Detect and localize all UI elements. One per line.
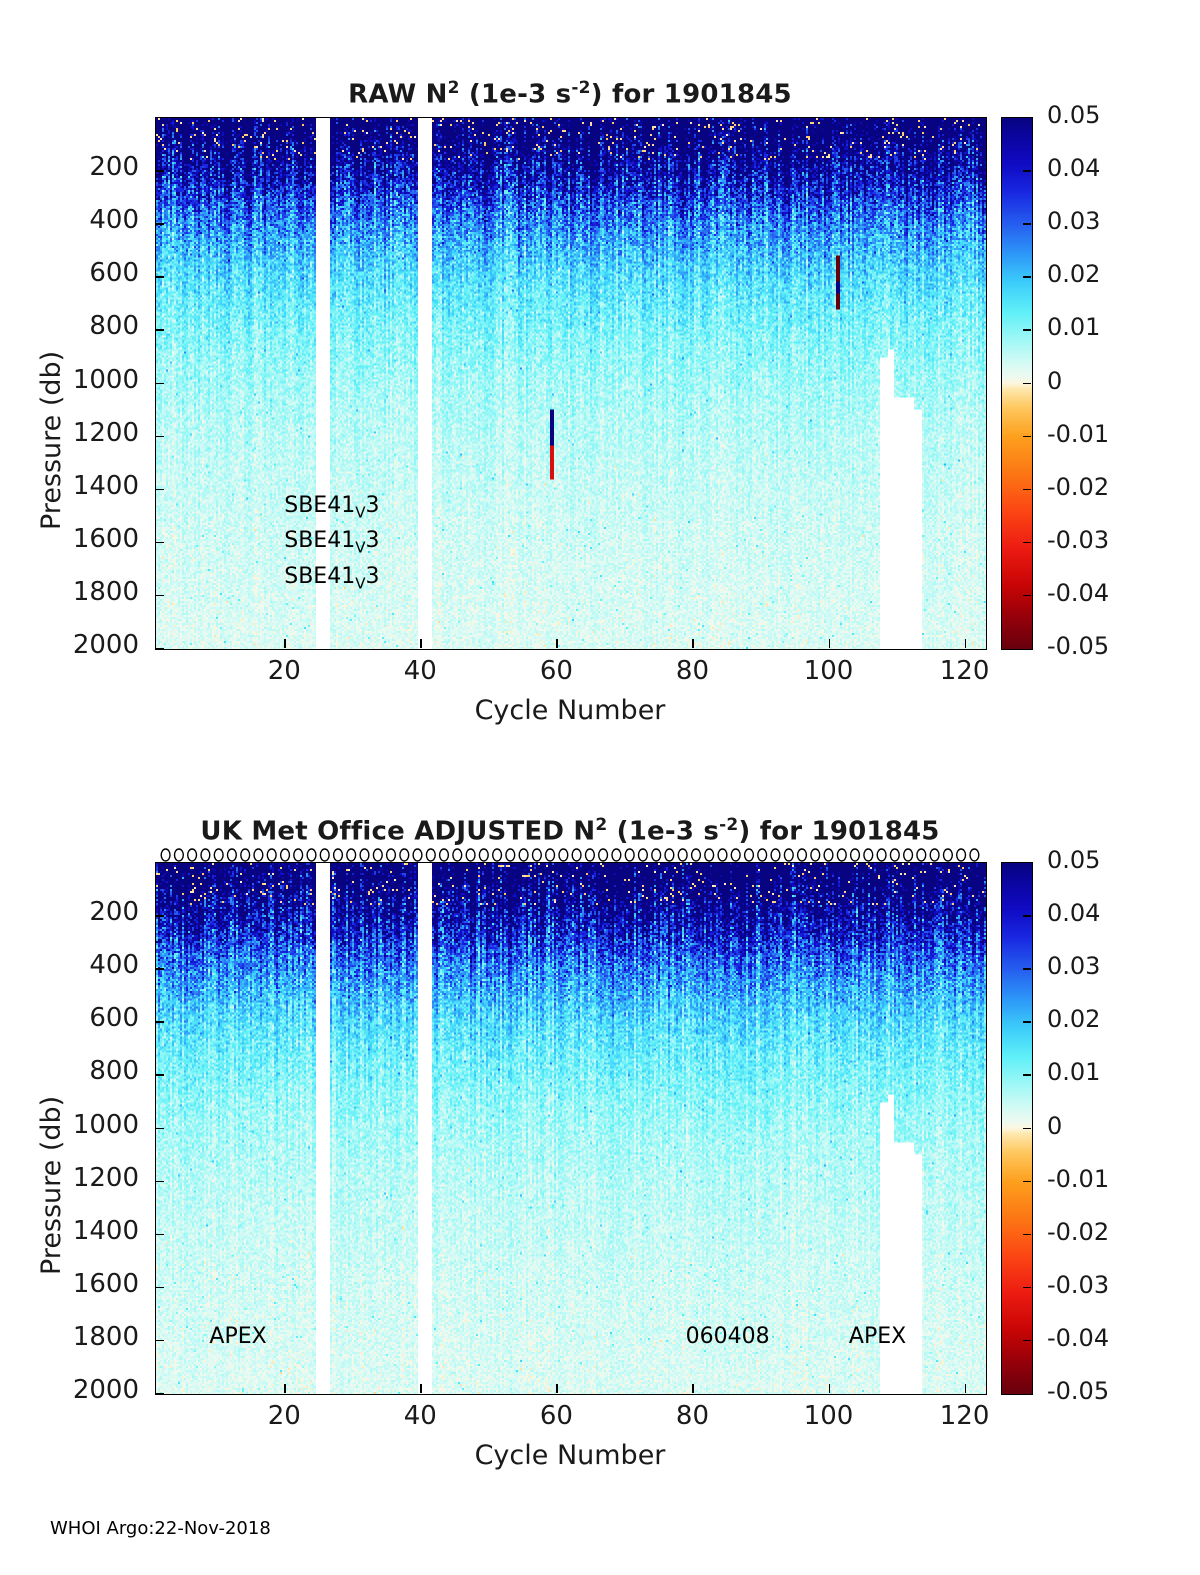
y-tick-mark [155, 542, 164, 544]
annotation-text: APEX [849, 1324, 906, 1349]
y-tick-mark [155, 436, 164, 438]
adjusted-cycle-marker-row [155, 848, 985, 862]
x-tick-mark [284, 1384, 286, 1393]
y-tick-label: 1400 [27, 1216, 139, 1246]
annotation-text: APEX [209, 1324, 266, 1349]
y-tick-label: 1200 [27, 1163, 139, 1193]
colorbar-tick-label: -0.01 [1047, 1165, 1109, 1193]
x-tick-label: 80 [642, 1401, 742, 1431]
adjusted-plot-title: UK Met Office ADJUSTED N2 (1e-3 s-2) for… [130, 815, 1010, 847]
x-tick-label: 80 [642, 656, 742, 686]
raw-title-sup1: 2 [448, 78, 460, 98]
plot-annotation: SBE41V3 [284, 564, 379, 592]
x-tick-mark [692, 1384, 694, 1393]
colorbar-tick-mark [1023, 1074, 1031, 1076]
colorbar-tick-label: -0.02 [1047, 473, 1109, 501]
raw-plot-title: RAW N2 (1e-3 s-2) for 1901845 [155, 78, 985, 110]
annotation-subscript: V [355, 575, 365, 593]
raw-title-sup2: -2 [571, 78, 590, 98]
adjusted-title-mid: (1e-3 s [607, 817, 719, 847]
adjusted-plot-area[interactable] [155, 862, 987, 1395]
y-tick-label: 2000 [27, 630, 139, 660]
x-tick-label: 60 [506, 1401, 606, 1431]
colorbar-tick-label: -0.02 [1047, 1218, 1109, 1246]
colorbar-tick-mark [1023, 489, 1031, 491]
colorbar-tick-label: -0.03 [1047, 526, 1109, 554]
figure-footer: WHOI Argo:22-Nov-2018 [50, 1518, 271, 1539]
adjusted-x-axis-label: Cycle Number [155, 1440, 985, 1471]
y-tick-label: 1800 [27, 577, 139, 607]
colorbar-tick-mark [1023, 1128, 1031, 1130]
y-tick-label: 600 [27, 1003, 139, 1033]
y-tick-mark [155, 383, 164, 385]
y-tick-label: 600 [27, 258, 139, 288]
annotation-text: SBE41 [284, 564, 355, 589]
colorbar-tick-mark [1023, 915, 1031, 917]
x-tick-label: 100 [779, 1401, 879, 1431]
colorbar-tick-label: 0.01 [1047, 1058, 1100, 1086]
x-tick-label: 20 [234, 656, 334, 686]
raw-title-main: RAW N [348, 80, 447, 110]
y-tick-label: 1800 [27, 1322, 139, 1352]
colorbar-tick-mark [1023, 1340, 1031, 1342]
colorbar-tick-mark [1023, 1181, 1031, 1183]
colorbar-tick-label: 0.05 [1047, 846, 1100, 874]
colorbar-tick-mark [1023, 1234, 1031, 1236]
raw-title-mid: (1e-3 s [460, 80, 572, 110]
colorbar-tick-label: -0.04 [1047, 1324, 1109, 1352]
y-tick-mark [155, 1340, 164, 1342]
y-tick-mark [155, 276, 164, 278]
adjusted-title-end: ) for 1901845 [738, 817, 939, 847]
colorbar-tick-label: 0.03 [1047, 952, 1100, 980]
colorbar-tick-label: 0 [1047, 367, 1062, 395]
x-tick-mark [829, 639, 831, 648]
colorbar-tick-label: 0.01 [1047, 313, 1100, 341]
colorbar-tick-label: -0.03 [1047, 1271, 1109, 1299]
x-tick-label: 40 [370, 1401, 470, 1431]
y-tick-label: 800 [27, 1056, 139, 1086]
y-tick-mark [155, 1128, 164, 1130]
colorbar-tick-mark [1023, 1287, 1031, 1289]
colorbar-tick-label: 0 [1047, 1112, 1062, 1140]
y-tick-label: 200 [27, 152, 139, 182]
y-tick-mark [155, 1393, 164, 1395]
plot-annotation: SBE41V3 [284, 528, 379, 556]
annotation-text: SBE41 [284, 493, 355, 518]
x-tick-mark [420, 1384, 422, 1393]
raw-title-end: ) for 1901845 [591, 80, 792, 110]
y-tick-label: 1600 [27, 1269, 139, 1299]
annotation-tail: 3 [365, 564, 379, 589]
colorbar-tick-label: -0.01 [1047, 420, 1109, 448]
x-tick-mark [692, 639, 694, 648]
y-tick-mark [155, 968, 164, 970]
annotation-tail: 3 [365, 493, 379, 518]
plot-annotation: SBE41V3 [284, 493, 379, 521]
raw-x-axis-label: Cycle Number [155, 695, 985, 726]
annotation-subscript: V [355, 503, 365, 521]
y-tick-label: 400 [27, 950, 139, 980]
colorbar-tick-label: 0.04 [1047, 899, 1100, 927]
plot-annotation: APEX [209, 1324, 266, 1349]
x-tick-mark [965, 1384, 967, 1393]
colorbar-tick-mark [1023, 170, 1031, 172]
y-tick-mark [155, 1074, 164, 1076]
annotation-subscript: V [355, 539, 365, 557]
colorbar-tick-mark [1023, 595, 1031, 597]
y-tick-mark [155, 1181, 164, 1183]
x-tick-mark [284, 639, 286, 648]
colorbar-tick-label: -0.05 [1047, 632, 1109, 660]
colorbar-tick-label: 0.04 [1047, 154, 1100, 182]
colorbar-tick-label: -0.05 [1047, 1377, 1109, 1405]
y-tick-mark [155, 223, 164, 225]
colorbar-tick-mark [1023, 968, 1031, 970]
raw-heatmap [156, 118, 986, 649]
x-tick-mark [420, 639, 422, 648]
colorbar-tick-label: 0.05 [1047, 101, 1100, 129]
y-tick-label: 1000 [27, 1110, 139, 1140]
adjusted-heatmap [156, 863, 986, 1394]
y-tick-mark [155, 648, 164, 650]
y-tick-label: 1000 [27, 365, 139, 395]
y-tick-mark [155, 170, 164, 172]
y-tick-mark [155, 1287, 164, 1289]
annotation-tail: 3 [365, 528, 379, 553]
raw-plot-area[interactable] [155, 117, 987, 650]
y-tick-label: 200 [27, 897, 139, 927]
y-tick-label: 800 [27, 311, 139, 341]
colorbar-tick-label: -0.04 [1047, 579, 1109, 607]
y-tick-mark [155, 489, 164, 491]
y-tick-mark [155, 1021, 164, 1023]
adjusted-title-main: UK Met Office ADJUSTED N [200, 817, 595, 847]
x-tick-label: 120 [915, 1401, 1015, 1431]
y-tick-label: 1200 [27, 418, 139, 448]
colorbar-tick-mark [1023, 223, 1031, 225]
y-tick-label: 2000 [27, 1375, 139, 1405]
colorbar-tick-label: 0.02 [1047, 260, 1100, 288]
y-tick-label: 400 [27, 205, 139, 235]
y-tick-label: 1400 [27, 471, 139, 501]
x-tick-label: 20 [234, 1401, 334, 1431]
y-tick-label: 1600 [27, 524, 139, 554]
x-tick-mark [556, 1384, 558, 1393]
plot-annotation: 060408 [686, 1324, 770, 1349]
x-tick-label: 60 [506, 656, 606, 686]
colorbar-tick-mark [1023, 1021, 1031, 1023]
x-tick-mark [556, 639, 558, 648]
y-tick-mark [155, 1234, 164, 1236]
colorbar-tick-mark [1023, 436, 1031, 438]
adjusted-title-sup1: 2 [595, 815, 607, 835]
x-tick-label: 100 [779, 656, 879, 686]
plot-annotation: APEX [849, 1324, 906, 1349]
x-tick-mark [965, 639, 967, 648]
colorbar-tick-mark [1023, 329, 1031, 331]
x-tick-mark [829, 1384, 831, 1393]
y-tick-mark [155, 595, 164, 597]
colorbar-tick-mark [1023, 542, 1031, 544]
y-tick-mark [155, 329, 164, 331]
y-tick-mark [155, 915, 164, 917]
colorbar-tick-label: 0.02 [1047, 1005, 1100, 1033]
colorbar-tick-mark [1023, 276, 1031, 278]
x-tick-label: 40 [370, 656, 470, 686]
annotation-text: SBE41 [284, 528, 355, 553]
adjusted-title-sup2: -2 [719, 815, 738, 835]
colorbar-tick-mark [1023, 383, 1031, 385]
annotation-text: 060408 [686, 1324, 770, 1349]
x-tick-label: 120 [915, 656, 1015, 686]
colorbar-tick-label: 0.03 [1047, 207, 1100, 235]
